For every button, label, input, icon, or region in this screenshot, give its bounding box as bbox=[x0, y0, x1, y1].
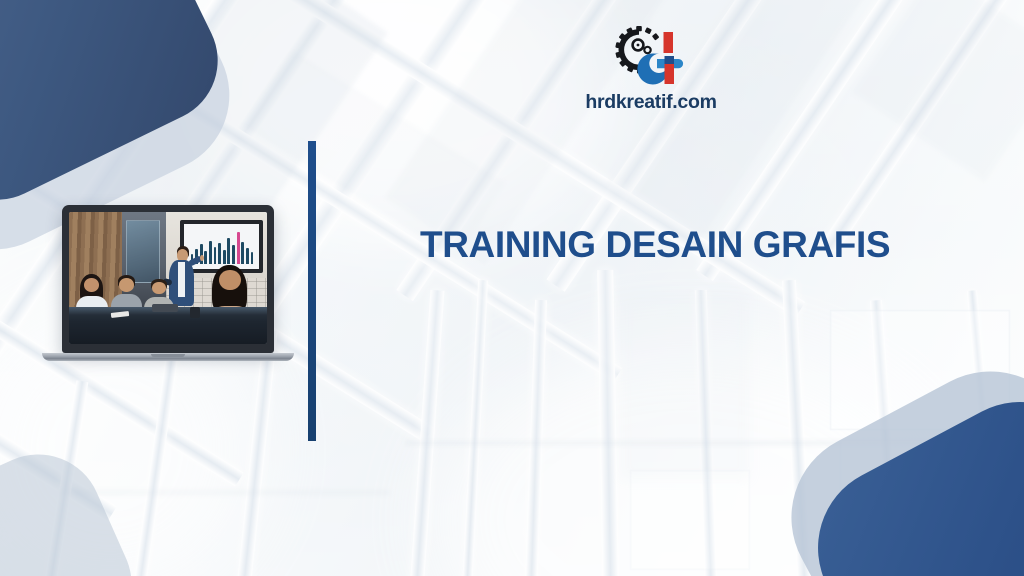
laptop-notch bbox=[151, 354, 185, 357]
chart-bar bbox=[241, 242, 244, 264]
chart-bar bbox=[251, 252, 254, 265]
brand-logo: hrdkreatif.com bbox=[556, 26, 746, 113]
chart-bar bbox=[246, 248, 249, 265]
chart-bar bbox=[214, 247, 217, 264]
chart-bar bbox=[223, 250, 226, 265]
vertical-accent-rule bbox=[308, 141, 316, 441]
chart-bar bbox=[237, 232, 240, 264]
conference-table bbox=[69, 307, 267, 344]
laptop-mockup bbox=[42, 205, 294, 365]
promo-banner: hrdkreatif.com bbox=[0, 0, 1024, 576]
laptop-on-table bbox=[152, 304, 178, 312]
glass-partition bbox=[126, 220, 160, 283]
laptop-screen bbox=[69, 212, 267, 344]
chart-bar bbox=[209, 241, 212, 264]
chart-bar bbox=[204, 251, 207, 264]
conference-room-photo bbox=[69, 212, 267, 344]
logo-wordmark: hrdkreatif.com bbox=[556, 92, 746, 113]
gear-and-hr-monogram-icon bbox=[608, 26, 694, 88]
chart-bar bbox=[227, 238, 230, 264]
chart-bar bbox=[232, 245, 235, 264]
cup-on-table bbox=[190, 307, 200, 318]
chart-bar bbox=[218, 243, 221, 264]
laptop-lid bbox=[62, 205, 274, 353]
page-title: TRAINING DESAIN GRAFIS bbox=[420, 225, 980, 266]
